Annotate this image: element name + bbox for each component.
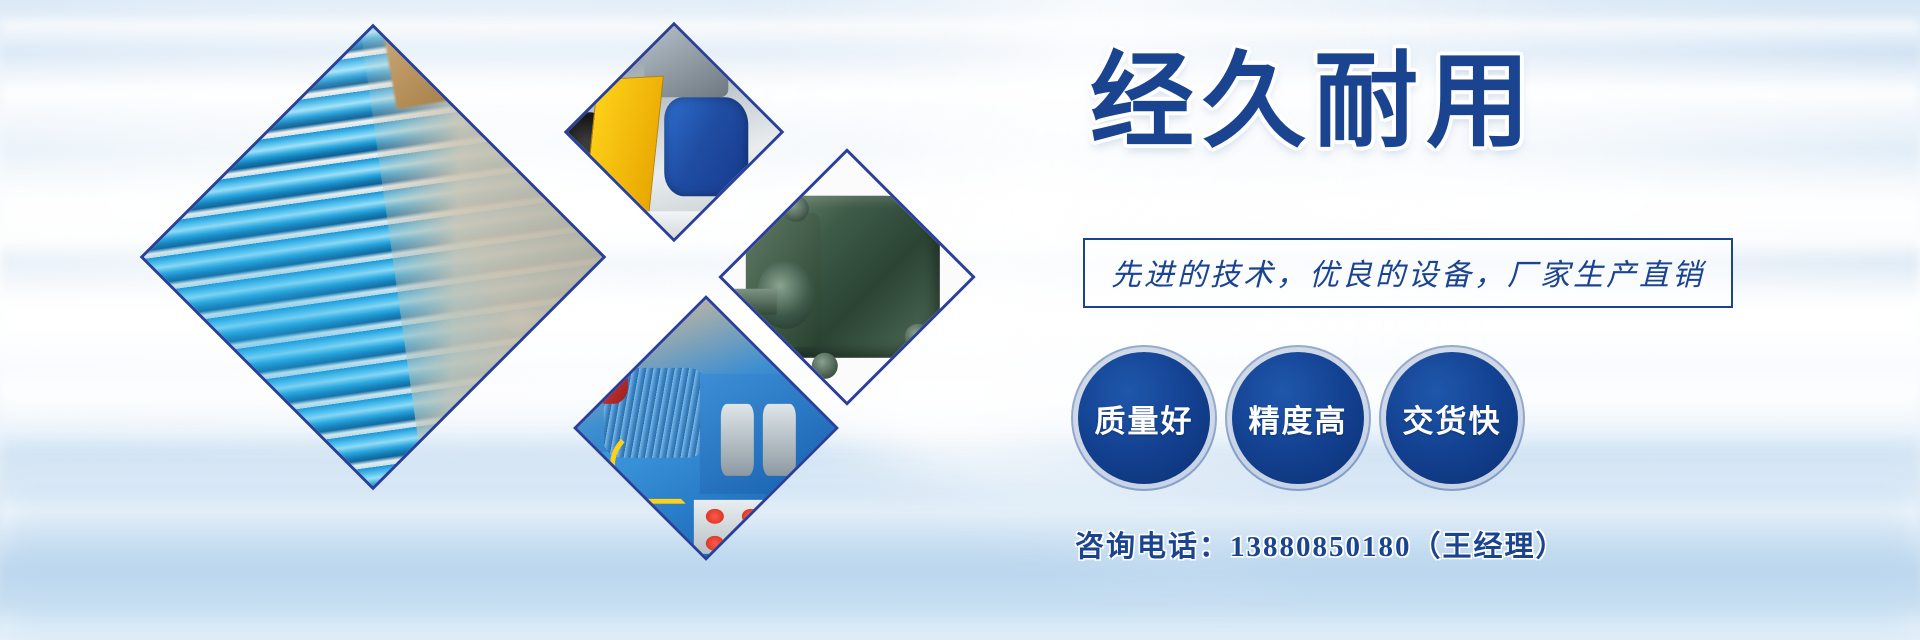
badge-precision[interactable]: 精度高 <box>1232 352 1364 484</box>
badge-delivery-label: 交货快 <box>1403 396 1502 441</box>
subtitle-text: 先进的技术，优良的设备，厂家生产直销 <box>1111 259 1705 292</box>
badge-precision-label: 精度高 <box>1249 396 1348 441</box>
badge-delivery[interactable]: 交货快 <box>1386 352 1518 484</box>
feature-badges: 质量好 精度高 交货快 <box>1078 352 1518 484</box>
photo-hydraulic-power-unit <box>564 22 785 243</box>
photo-blue-hydraulic-cylinders <box>140 24 607 491</box>
diamond-photo-collage <box>0 0 1000 640</box>
headline: 经久耐用 <box>1090 48 1538 157</box>
subtitle-box: 先进的技术，优良的设备，厂家生产直销 <box>1083 238 1733 308</box>
badge-quality-label: 质量好 <box>1095 396 1194 441</box>
contact-prefix: 咨询电话： <box>1075 531 1230 563</box>
promo-banner: 经久耐用 先进的技术，优良的设备，厂家生产直销 质量好 精度高 交货快 咨询电话… <box>0 0 1920 640</box>
badge-quality[interactable]: 质量好 <box>1078 352 1210 484</box>
contact-line[interactable]: 咨询电话：13880850180（王经理） <box>1075 523 1567 565</box>
contact-suffix: （王经理） <box>1412 531 1567 563</box>
contact-phone-number[interactable]: 13880850180 <box>1230 531 1412 563</box>
